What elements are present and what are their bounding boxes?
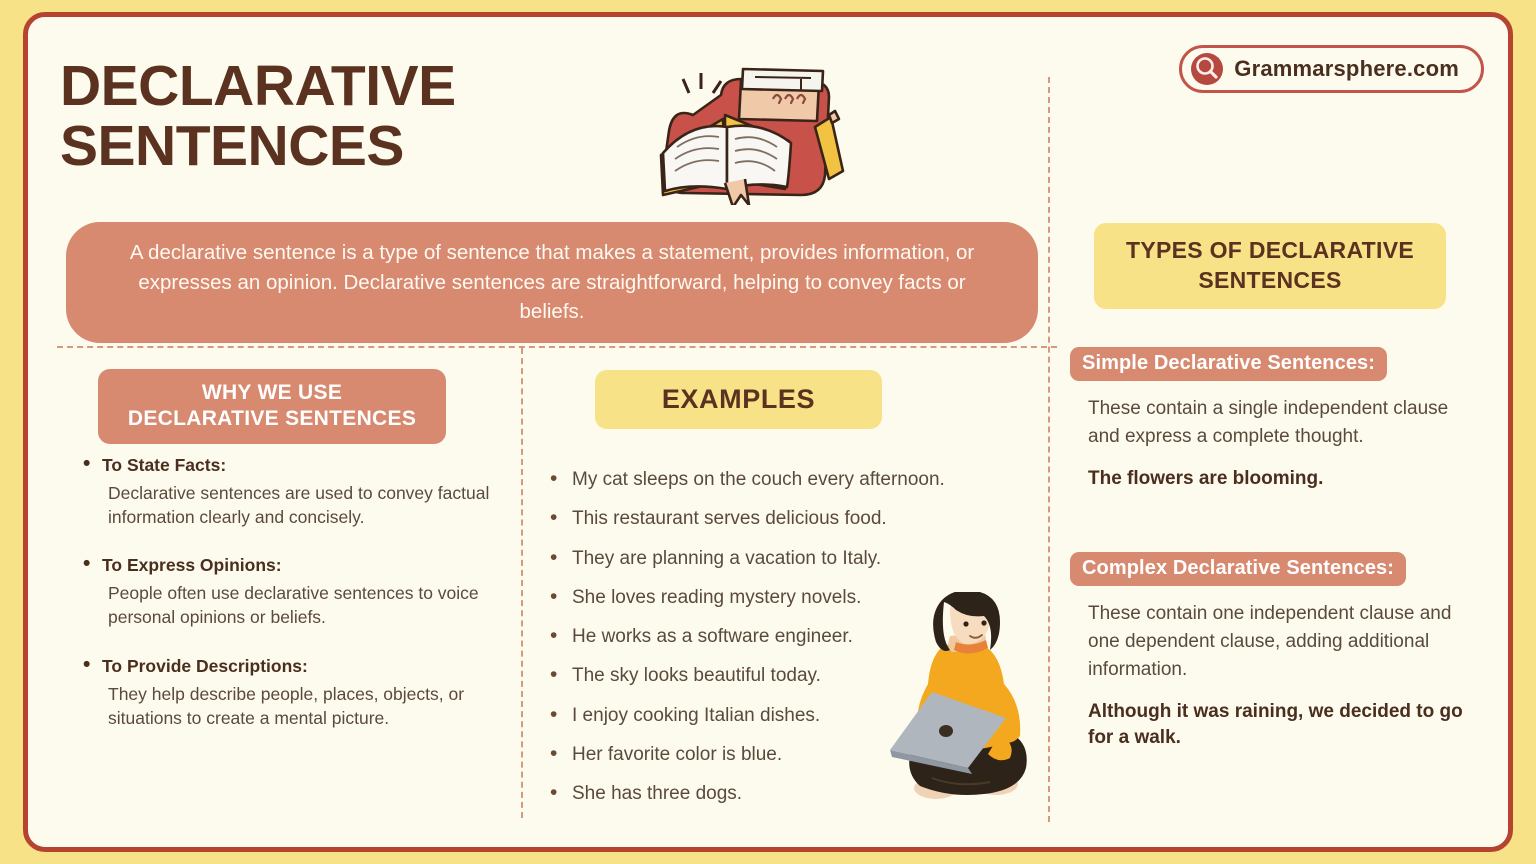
why-item-description: People often use declarative sentences t… xyxy=(76,581,496,629)
list-item: They are planning a vacation to Italy. xyxy=(536,548,1036,571)
list-item: My cat sleeps on the couch every afterno… xyxy=(536,469,1036,492)
examples-section-heading: EXAMPLES xyxy=(595,370,882,429)
girl-with-laptop-illustration xyxy=(880,592,1045,807)
site-logo[interactable]: Grammarsphere.com xyxy=(1179,45,1484,93)
logo-text: Grammarsphere.com xyxy=(1234,56,1459,82)
why-item-title: To Provide Descriptions: xyxy=(76,656,496,677)
types-section-heading: TYPES OF DECLARATIVE SENTENCES xyxy=(1094,223,1446,309)
status-badge: Simple Declarative Sentences: xyxy=(1070,347,1387,381)
type-block-simple: Simple Declarative Sentences: These cont… xyxy=(1070,347,1490,492)
types-heading-line-1: TYPES OF DECLARATIVE xyxy=(1104,236,1436,266)
definition-text: A declarative sentence is a type of sent… xyxy=(130,241,974,323)
type-example: Although it was raining, we decided to g… xyxy=(1070,699,1490,752)
vertical-divider-right xyxy=(1048,77,1050,822)
why-items-list: To State Facts: Declarative sentences ar… xyxy=(76,455,496,756)
types-heading-line-2: SENTENCES xyxy=(1104,266,1436,296)
type-example: The flowers are blooming. xyxy=(1070,466,1490,493)
why-heading-line-1: WHY WE USE xyxy=(106,380,438,406)
why-item-description: Declarative sentences are used to convey… xyxy=(76,481,496,529)
type-description: These contain a single independent claus… xyxy=(1070,395,1490,451)
type-block-complex: Complex Declarative Sentences: These con… xyxy=(1070,552,1490,752)
status-badge: Complex Declarative Sentences: xyxy=(1070,552,1406,586)
page-title-line-1: DECLARATIVE xyxy=(60,57,456,117)
why-item-description: They help describe people, places, objec… xyxy=(76,682,496,730)
why-section-heading: WHY WE USE DECLARATIVE SENTENCES xyxy=(98,369,446,444)
why-item: To Provide Descriptions: They help descr… xyxy=(76,656,496,730)
why-item: To State Facts: Declarative sentences ar… xyxy=(76,455,496,529)
definition-box: A declarative sentence is a type of sent… xyxy=(66,222,1038,343)
list-item: This restaurant serves delicious food. xyxy=(536,508,1036,531)
why-item-title: To Express Opinions: xyxy=(76,555,496,576)
type-description: These contain one independent clause and… xyxy=(1070,600,1490,684)
open-book-illustration xyxy=(633,55,863,205)
why-item: To Express Opinions: People often use de… xyxy=(76,555,496,629)
infographic-poster: DECLARATIVE SENTENCES xyxy=(23,12,1513,852)
page-title: DECLARATIVE SENTENCES xyxy=(60,57,456,177)
why-heading-line-2: DECLARATIVE SENTENCES xyxy=(106,406,438,432)
vertical-divider-middle xyxy=(521,348,523,818)
page-title-line-2: SENTENCES xyxy=(60,117,456,177)
why-item-title: To State Facts: xyxy=(76,455,496,476)
magnifier-icon xyxy=(1190,52,1224,86)
horizontal-divider xyxy=(57,346,1057,348)
